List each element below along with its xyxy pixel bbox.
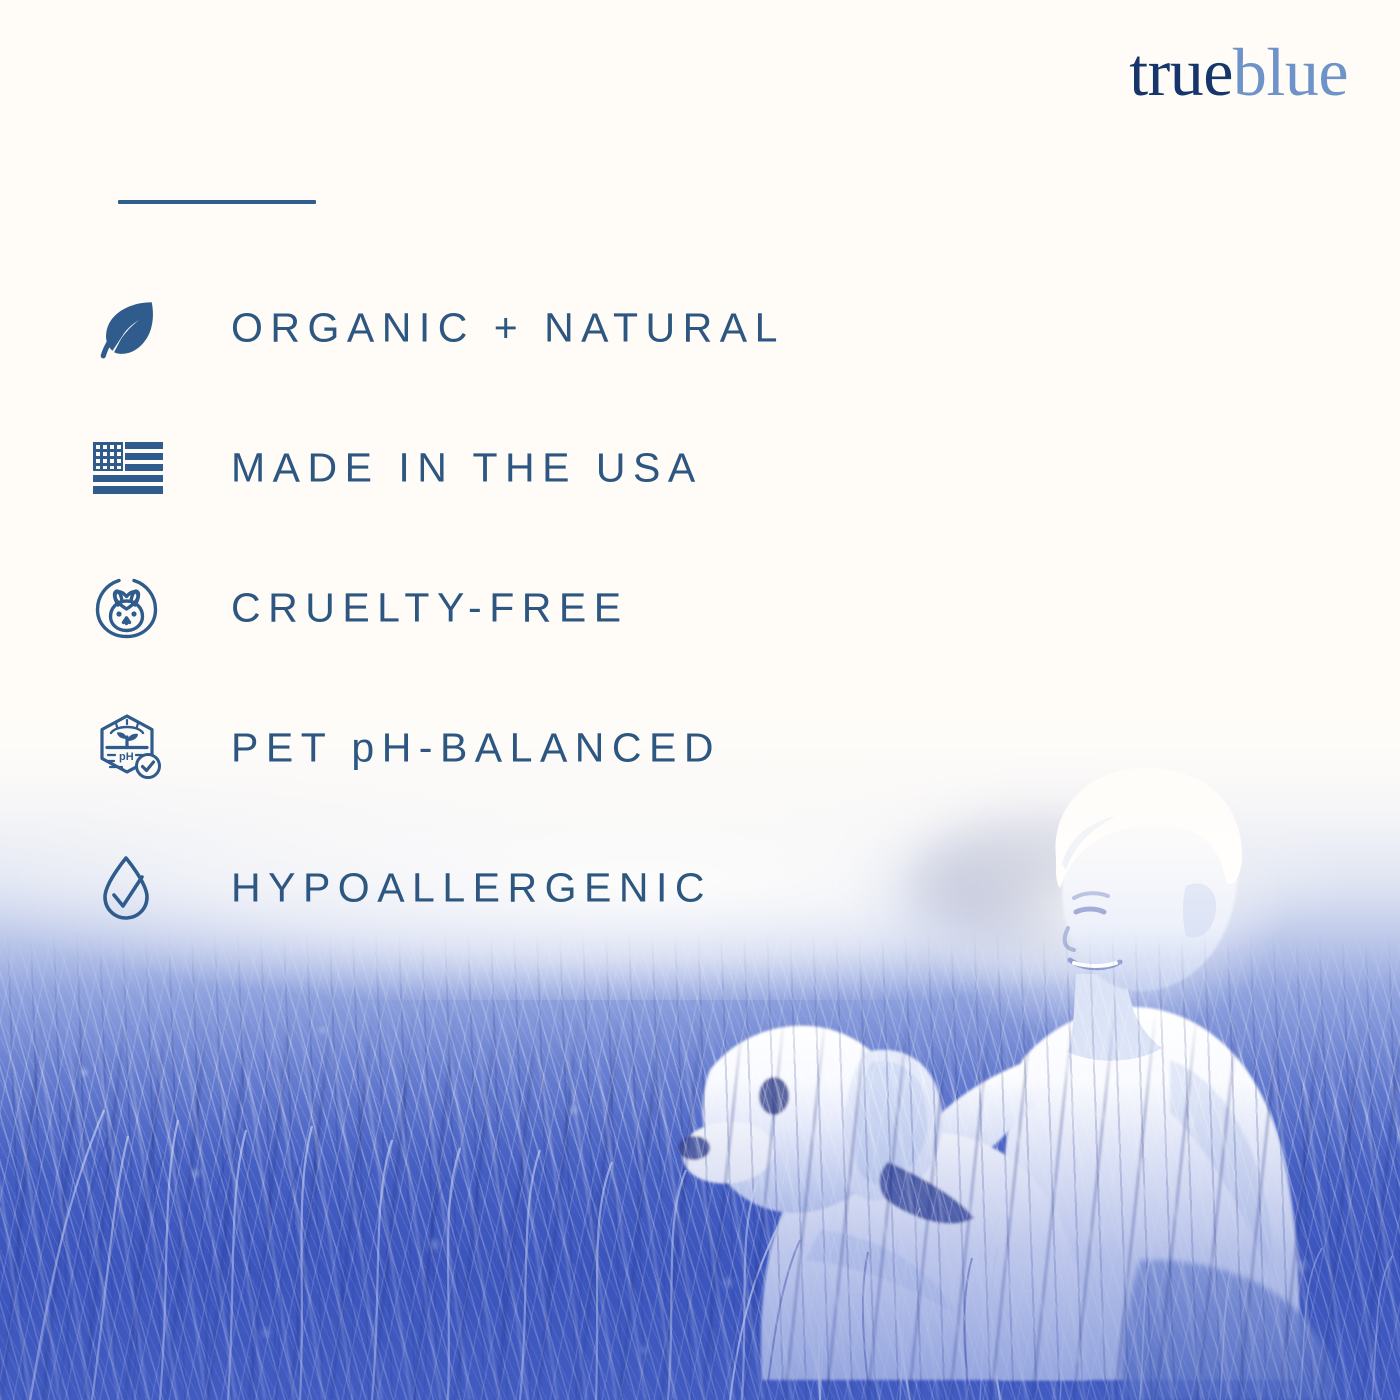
horizontal-rule — [118, 200, 316, 204]
benefit-label: HYPOALLERGENIC — [231, 865, 712, 912]
ph-badge-icon: pH — [88, 708, 168, 788]
benefit-row-made-in-usa: MADE IN THE USA — [0, 398, 1000, 538]
benefit-label: MADE IN THE USA — [231, 445, 703, 492]
logo-text-blue: blue — [1233, 34, 1348, 110]
benefit-label: ORGANIC + NATURAL — [231, 305, 785, 352]
promo-canvas: trueblue ORGANIC + NATURAL — [0, 0, 1400, 1400]
logo-text-true: true — [1129, 34, 1233, 110]
water-drop-check-icon — [88, 848, 168, 928]
benefit-row-organic-natural: ORGANIC + NATURAL — [0, 258, 1000, 398]
leaf-icon — [88, 288, 168, 368]
rabbit-heart-icon — [88, 568, 168, 648]
brand-logo[interactable]: trueblue — [1129, 38, 1348, 106]
benefit-label: PET pH-BALANCED — [231, 725, 721, 772]
benefit-row-cruelty-free: CRUELTY-FREE — [0, 538, 1000, 678]
benefits-list: ORGANIC + NATURAL — [0, 258, 1000, 958]
benefit-label: CRUELTY-FREE — [231, 585, 629, 632]
svg-text:pH: pH — [119, 751, 134, 763]
usa-flag-icon — [88, 428, 168, 508]
benefit-row-hypoallergenic: HYPOALLERGENIC — [0, 818, 1000, 958]
benefit-row-ph-balanced: pH PET pH-BALANCED — [0, 678, 1000, 818]
